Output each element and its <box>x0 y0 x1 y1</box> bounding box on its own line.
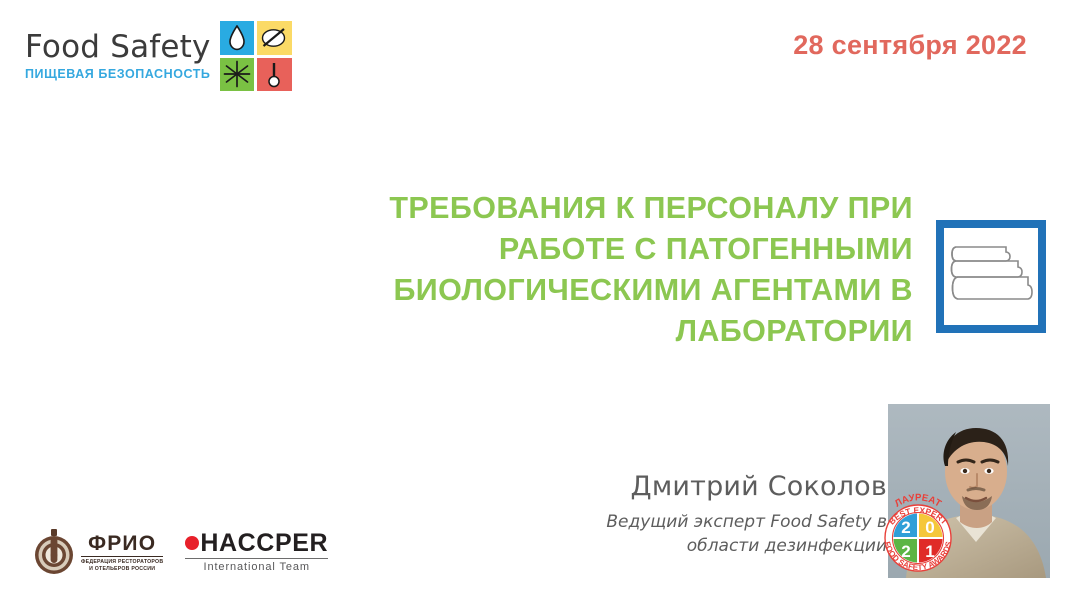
award-digit-1: 2 <box>901 518 910 537</box>
food-safety-logo: Food Safety ПИЩЕВАЯ БЕЗОПАСНОСТЬ <box>25 20 292 91</box>
slide-date: 28 сентября 2022 <box>793 30 1027 61</box>
award-digit-4: 1 <box>925 542 934 561</box>
presenter-block: Дмитрий Соколов Ведущий эксперт Food Saf… <box>557 470 887 558</box>
books-stack-icon <box>936 220 1046 333</box>
snowflake-icon <box>220 58 255 92</box>
award-digit-2: 0 <box>925 518 934 537</box>
thermometer-icon <box>257 58 292 92</box>
frio-divider <box>81 556 163 557</box>
frio-logo-text: ФРИО ФЕДЕРАЦИЯ РЕСТОРАТОРОВ И ОТЕЛЬЕРОВ … <box>81 532 163 573</box>
frio-subtitle-line2: И ОТЕЛЬЕРОВ РОССИИ <box>89 566 155 573</box>
haccper-logo-row: HACCPER <box>185 530 328 556</box>
presenter-role: Ведущий эксперт Food Safety в области де… <box>557 510 887 558</box>
haccper-divider <box>185 558 328 559</box>
award-digit-3: 2 <box>901 542 910 561</box>
food-safety-logo-tiles <box>220 21 292 91</box>
frio-name: ФРИО <box>88 532 156 555</box>
frio-subtitle-line1: ФЕДЕРАЦИЯ РЕСТОРАТОРОВ <box>81 559 163 566</box>
award-badge: 2 0 2 1 BEST EXPERT FOOD SAFETY AWARDS Л… <box>877 492 959 577</box>
food-safety-logo-text: Food Safety ПИЩЕВАЯ БЕЗОПАСНОСТЬ <box>25 29 211 82</box>
haccper-name: HACCPER <box>200 530 328 556</box>
slide-title: ТРЕБОВАНИЯ К ПЕРСОНАЛУ ПРИ РАБОТЕ С ПАТО… <box>255 188 913 352</box>
red-dot-icon <box>185 536 199 550</box>
food-safety-logo-subtitle: ПИЩЕВАЯ БЕЗОПАСНОСТЬ <box>25 66 211 82</box>
frio-logo: ФРИО ФЕДЕРАЦИЯ РЕСТОРАТОРОВ И ОТЕЛЬЕРОВ … <box>33 528 163 576</box>
haccper-logo: HACCPER International Team <box>185 530 328 574</box>
grain-leaf-icon <box>257 21 292 55</box>
food-safety-logo-title: Food Safety <box>25 29 211 65</box>
slide-canvas: Food Safety ПИЩЕВАЯ БЕЗОПАСНОСТЬ <box>0 0 1067 600</box>
haccper-subtitle: International Team <box>185 561 328 574</box>
water-drop-icon <box>220 21 255 55</box>
presenter-name: Дмитрий Соколов <box>557 470 887 503</box>
frio-emblem-icon <box>33 528 75 576</box>
footer-logos: ФРИО ФЕДЕРАЦИЯ РЕСТОРАТОРОВ И ОТЕЛЬЕРОВ … <box>33 528 328 576</box>
